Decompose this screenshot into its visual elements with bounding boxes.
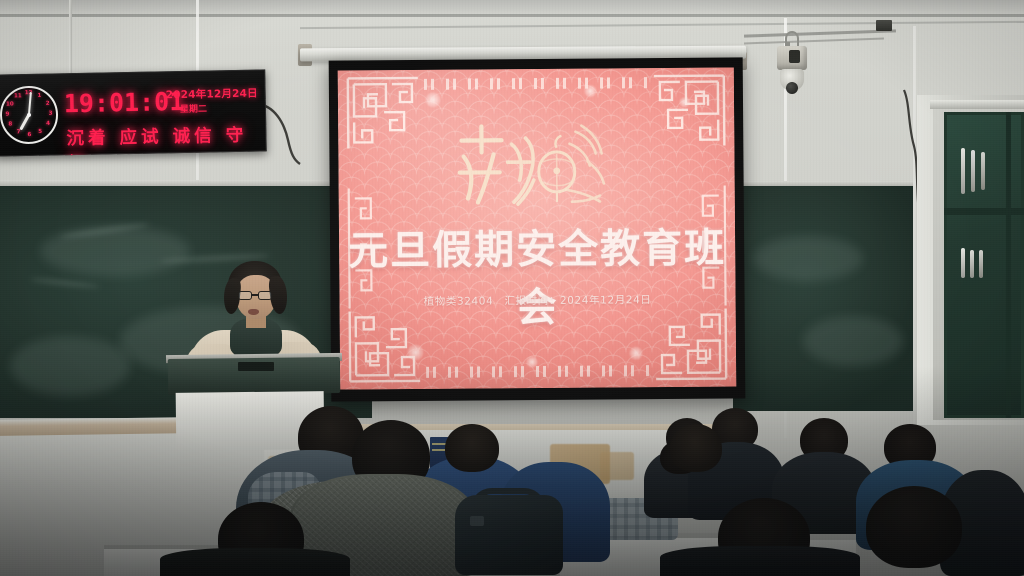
door-handle-bar[interactable] [981,152,985,190]
lectern-console [238,362,274,371]
chalk-streak [30,277,100,288]
door-handle-lower-bar[interactable] [970,250,974,278]
clock-numeral: 11 [14,94,22,100]
chalk-smudge [10,336,130,396]
led-date-display: 2024年12月24日 [166,86,258,103]
chalk-smudge [753,236,863,281]
led-clock-board: 12 1 2 3 4 5 6 7 8 9 10 11 19:01:01 2024… [0,69,267,156]
surveillance-camera-icon [775,44,809,106]
slide: 元旦假期安全教育班会 植物类32404 汇报时间：2024年12月24日 [338,67,736,389]
door-handle-bar[interactable] [971,150,975,192]
clock-numeral: 4 [46,122,50,128]
student-head [670,424,722,472]
clock-numeral: 8 [8,123,12,129]
door-handle-lower-bar[interactable] [979,250,983,278]
door-mullion-horizontal [944,208,1024,215]
clock-numeral: 7 [17,131,21,137]
classroom-scene: 12 1 2 3 4 5 6 7 8 9 10 11 19:01:01 2024… [0,0,1024,576]
backpack [455,495,563,575]
wall-cable-left [258,96,318,166]
chalkboard-right [733,186,913,411]
wall-seam-far-right [913,26,916,426]
student-body-foreground [160,548,350,576]
presenter-glasses-left-lens [238,291,252,300]
clock-numeral: 5 [38,130,42,136]
clock-numeral: 1 [37,94,41,100]
clock-minute-hand [28,92,32,115]
presenter-glasses-right-lens [258,291,272,300]
door-mullion-vertical [1006,112,1011,418]
led-weekday-display: 星期二 [180,102,207,116]
door-handle[interactable] [961,148,965,194]
slide-subtitle: 植物类32404 汇报时间：2024年12月24日 [340,291,736,309]
clock-numeral: 6 [27,133,31,139]
desk-scuff [600,452,634,480]
door-header [930,100,1024,109]
presenter-mouth [248,309,259,315]
chalk-smudge [803,316,903,366]
ceiling-trim-line [0,14,1024,17]
student-body-foreground-right [660,546,860,576]
wall-junction-box [876,20,892,31]
clock-numeral: 9 [5,113,9,119]
student-head-blue-jacket [445,424,499,472]
clock-numeral: 2 [46,101,50,107]
camera-lens-box [789,50,800,63]
clock-numeral: 10 [6,102,14,108]
door-handle-lower[interactable] [961,248,965,278]
clock-center-pin [27,113,31,117]
clock-numeral: 3 [49,112,53,118]
camera-dome-lens [786,82,798,94]
projection-screen-surface: 元旦假期安全教育班会 植物类32404 汇报时间：2024年12月24日 [338,67,736,389]
backpack-buckle [470,516,484,526]
chalk-smudge [40,226,190,276]
led-motto-display: 沉着 应试 诚信 守纪 [66,121,267,156]
slide-title: 元旦假期安全教育班会 [339,216,736,335]
student-head-far-right [866,486,962,568]
presenter-glasses-bridge [251,294,259,296]
projection-screen: 元旦假期安全教育班会 植物类32404 汇报时间：2024年12月24日 [329,57,746,401]
